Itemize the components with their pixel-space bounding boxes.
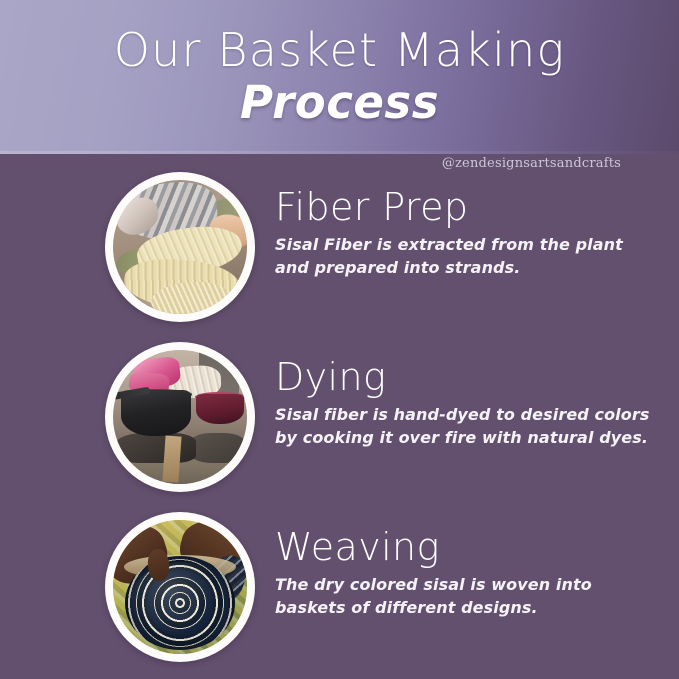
step-weaving: Weaving The dry colored sisal is woven i… <box>0 512 679 679</box>
step-description-weaving: The dry colored sisal is woven into bask… <box>275 573 605 619</box>
sisal-fiber-drying-photo <box>113 180 247 314</box>
step-description-fiber-prep: Sisal Fiber is extracted from the plant … <box>275 233 605 279</box>
step-image-ring-fiber-prep <box>105 172 255 322</box>
step-text-weaving: Weaving The dry colored sisal is woven i… <box>255 512 679 619</box>
process-steps-list: Fiber Prep Sisal Fiber is extracted from… <box>0 172 679 679</box>
step-description-dying: Sisal fiber is hand-dyed to desired colo… <box>275 403 605 449</box>
step-text-dying: Dying Sisal fiber is hand-dyed to desire… <box>255 342 679 449</box>
step-description-line-1: Sisal Fiber is extracted from the plant <box>275 233 605 256</box>
step-description-line-1: Sisal fiber is hand-dyed to desired colo… <box>275 403 605 426</box>
header-band <box>0 0 679 154</box>
step-title-weaving: Weaving <box>275 526 679 568</box>
step-image-ring-weaving <box>105 512 255 662</box>
step-description-line-1: The dry colored sisal is woven into <box>275 573 605 596</box>
infographic-canvas: Our Basket Making Process @zendesignsart… <box>0 0 679 679</box>
step-fiber-prep: Fiber Prep Sisal Fiber is extracted from… <box>0 172 679 342</box>
step-description-line-2: by cooking it over fire with natural dye… <box>275 426 605 449</box>
step-image-ring-dying <box>105 342 255 492</box>
step-text-fiber-prep: Fiber Prep Sisal Fiber is extracted from… <box>255 172 679 279</box>
step-title-fiber-prep: Fiber Prep <box>275 186 679 228</box>
step-description-line-2: baskets of different designs. <box>275 596 605 619</box>
dye-pot-over-fire-photo <box>113 350 247 484</box>
step-title-dying: Dying <box>275 356 679 398</box>
hands-weaving-basket-photo <box>113 520 247 654</box>
social-handle: @zendesignsartsandcrafts <box>442 156 621 172</box>
step-dying: Dying Sisal fiber is hand-dyed to desire… <box>0 342 679 512</box>
step-description-line-2: and prepared into strands. <box>275 256 605 279</box>
